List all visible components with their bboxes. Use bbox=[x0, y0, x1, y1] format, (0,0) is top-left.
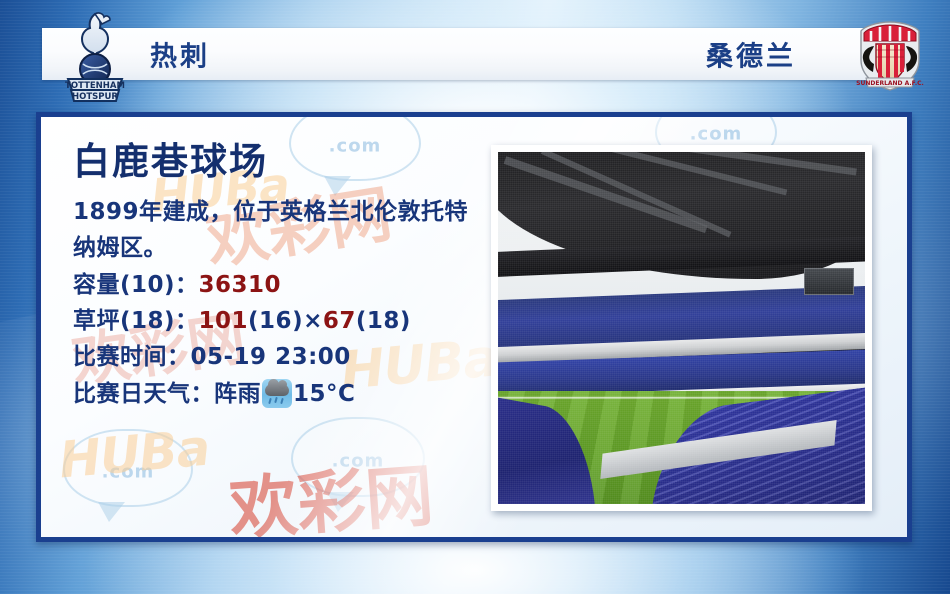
weather-temp: 15°C bbox=[293, 381, 355, 407]
stadium-photo-frame bbox=[491, 145, 872, 511]
watermark-bubble-mid: .com bbox=[291, 417, 425, 497]
rain-shower-icon bbox=[262, 379, 292, 408]
pitch-width-value: 67 bbox=[323, 308, 356, 334]
pitch-row: 草坪(18)：101(16)×67(18) bbox=[73, 303, 491, 339]
weather-condition: 阵雨 bbox=[214, 381, 261, 407]
watermark-domain-4: .com bbox=[102, 461, 155, 482]
sunderland-afc-crest-icon: SUNDERLAND A.F.C. bbox=[856, 20, 924, 92]
pitch-length-value: 101 bbox=[199, 308, 249, 334]
capacity-value: 36310 bbox=[199, 272, 282, 298]
stadium-info-card: .com .com .com .com HUBa HUBa HUBa 欢彩网 欢… bbox=[36, 112, 912, 542]
rain-drops bbox=[268, 397, 286, 405]
match-time-label: 比赛时间： bbox=[73, 344, 191, 370]
stadium-description: 1899年建成，位于英格兰北伦敦托特纳姆区。 bbox=[73, 194, 491, 267]
watermark-huba-3: HUBa bbox=[57, 419, 212, 490]
crest-text-tottenham: TOTTENHAM bbox=[65, 81, 125, 91]
match-weather-row: 比赛日天气：阵雨 15°C bbox=[73, 376, 491, 412]
capacity-row: 容量(10)：36310 bbox=[73, 267, 491, 303]
cloud-shape bbox=[265, 384, 289, 396]
watermark-brand-cn-2: 欢彩网 bbox=[226, 440, 436, 542]
match-time-value: 05-19 23:00 bbox=[191, 344, 351, 370]
pitch-length-rank: (16) bbox=[248, 308, 303, 334]
match-header-bar: 热刺 桑德兰 bbox=[42, 28, 908, 80]
pitch-width-rank: (18) bbox=[356, 308, 411, 334]
watermark-bubble-bottom-left: .com bbox=[63, 429, 193, 507]
capacity-label: 容量(10)： bbox=[73, 272, 199, 298]
watermark-domain-2: .com bbox=[690, 124, 743, 145]
away-team-name: 桑德兰 bbox=[706, 35, 796, 74]
photo-scoreboard bbox=[804, 268, 854, 295]
tottenham-hotspur-crest-icon: TOTTENHAM HOTSPUR bbox=[62, 11, 128, 103]
home-team-name: 热刺 bbox=[150, 35, 210, 74]
crest-text-hotspur: HOTSPUR bbox=[72, 92, 118, 102]
match-time-row: 比赛时间：05-19 23:00 bbox=[73, 339, 491, 375]
crest-text-sunderland: SUNDERLAND A.F.C. bbox=[856, 80, 924, 87]
stadium-info-block: 白鹿巷球场 1899年建成，位于英格兰北伦敦托特纳姆区。 容量(10)：3631… bbox=[73, 143, 491, 412]
match-preview-stage: 热刺 桑德兰 bbox=[0, 0, 950, 594]
stadium-title: 白鹿巷球场 bbox=[73, 143, 491, 180]
pitch-separator: × bbox=[303, 308, 323, 334]
watermark-domain-3: .com bbox=[332, 450, 385, 471]
weather-label: 比赛日天气： bbox=[73, 381, 214, 407]
stadium-photo bbox=[498, 152, 865, 504]
pitch-label: 草坪(18)： bbox=[73, 308, 199, 334]
